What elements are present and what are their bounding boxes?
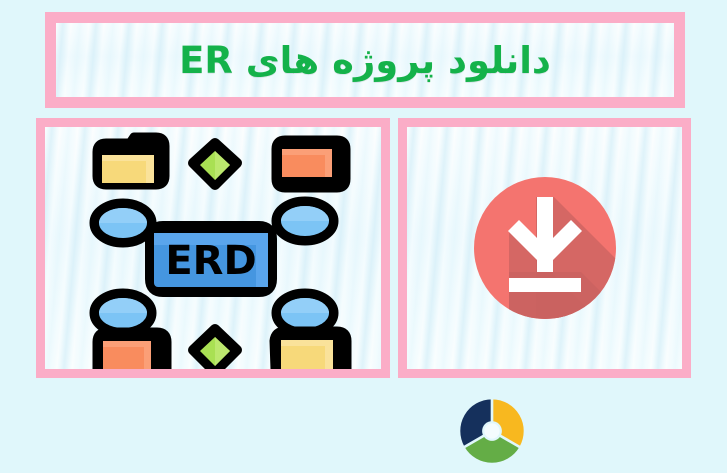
eprozhe-pie-logo-icon bbox=[459, 398, 525, 464]
shape-entity-bottom-left bbox=[97, 332, 167, 369]
shape-attribute-mid-left bbox=[94, 203, 152, 243]
banner-canvas: دانلود پروژه های ER bbox=[0, 0, 727, 473]
page-title: دانلود پروژه های ER bbox=[56, 23, 674, 97]
shape-relationship-bottom bbox=[193, 329, 237, 369]
erd-illustration-panel[interactable]: ERD bbox=[36, 118, 390, 378]
shape-entity-bottom-right bbox=[274, 331, 347, 369]
erd-diagram: ERD bbox=[45, 127, 381, 369]
header-panel: دانلود پروژه های ER bbox=[45, 12, 685, 108]
download-icon-wrap[interactable] bbox=[407, 127, 682, 369]
shape-relationship-top bbox=[193, 143, 237, 185]
download-icon[interactable] bbox=[465, 168, 625, 328]
shape-entity-top-left bbox=[97, 137, 165, 185]
shape-entity-top-right bbox=[276, 140, 346, 188]
eprozhe-wordmark: EPROZHE EPROZHE bbox=[203, 409, 445, 453]
shape-erd-center-box: ERD bbox=[151, 227, 271, 291]
download-baseline-bar bbox=[509, 278, 581, 292]
erd-center-label: ERD bbox=[165, 238, 256, 284]
shape-attribute-mid-right bbox=[276, 201, 334, 241]
brand-footer: EPROZHE EPROZHE bbox=[0, 388, 727, 473]
shape-attribute-low-left bbox=[94, 293, 152, 333]
download-panel[interactable] bbox=[398, 118, 691, 378]
logo-center-hub-inner bbox=[484, 423, 499, 438]
